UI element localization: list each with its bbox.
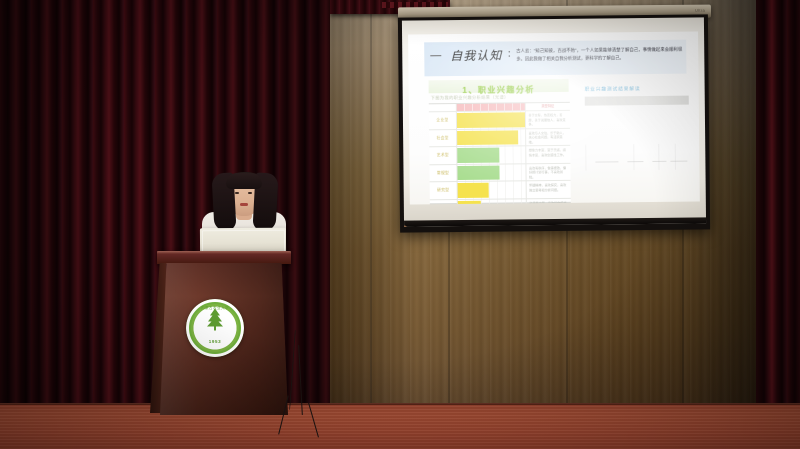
table-header-name-cell <box>429 104 457 111</box>
emblem-year: 1953 <box>186 339 244 344</box>
slide-sub-caption: 下图为我的职业兴趣分析结果（光谱） <box>431 94 509 101</box>
interest-analysis-table: 类型特征 企业型善于交际，热衷权力，善辞、善于说服他人，喜欢竞争。社会型喜欢与人… <box>429 102 571 204</box>
hair-fringe <box>226 173 262 189</box>
table-cell-type-name: 艺术型 <box>429 147 457 164</box>
stage-scene-photo: Ultra 自我认知 ： 古人云：“知己知彼，百战不殆”，一个人如果能够清楚了解… <box>0 0 800 449</box>
score-bar-fill <box>457 130 518 145</box>
table-row: 企业型善于交际，热衷权力，善辞、善于说服他人，喜欢竞争。 <box>429 111 570 130</box>
right-panel-faint-content <box>585 144 689 171</box>
title-dash-icon <box>430 55 441 57</box>
table-row: 社会型喜欢与人交往，乐于助人，关心社会问题，有活跃思维。 <box>429 128 570 147</box>
table-cell-score-bar <box>457 164 526 181</box>
stage-curtain-right <box>756 0 800 449</box>
table-cell-score-bar <box>457 146 526 163</box>
table-cell-score-bar <box>457 111 526 128</box>
projection-screen: 自我认知 ： 古人云：“知己知彼，百战不殆”，一个人如果能够清楚了解自己，事情做… <box>398 14 710 232</box>
slide-intro-text: 古人云：“知己知彼，百战不殆”，一个人如果能够清楚了解自己，事情做起来会顺利很多… <box>516 46 682 64</box>
table-cell-type-name: 社会型 <box>429 130 457 147</box>
table-cell-description: 喜欢有秩序，做事细致，偏好按计划行事，不喜欢冒险。 <box>526 163 570 180</box>
table-body: 企业型善于交际，热衷权力，善辞、善于说服他人，喜欢竞争。社会型喜欢与人交往，乐于… <box>429 111 571 205</box>
table-row: 现实型动手能力强，喜欢操作机械工具，务实稳重。 <box>430 198 571 204</box>
screen-bottom-bar <box>404 217 706 226</box>
score-bar-fill <box>458 200 481 204</box>
slide-title-band: 自我认知 ： 古人云：“知己知彼，百战不殆”，一个人如果能够清楚了解自己，事情做… <box>424 40 686 77</box>
projection-screen-surface: 自我认知 ： 古人云：“知己知彼，百战不殆”，一个人如果能够清楚了解自己，事情做… <box>402 17 706 226</box>
table-row: 研究型怀疑精神，喜欢探究，喜欢独立思考和分析问题。 <box>430 181 571 200</box>
roller-brand-label: Ultra <box>695 8 705 13</box>
score-bar-fill <box>457 148 499 163</box>
table-cell-description: 怀疑精神，喜欢探究，喜欢独立思考和分析问题。 <box>527 181 571 198</box>
screen-pull-handle[interactable] <box>402 226 408 227</box>
table-cell-type-name: 研究型 <box>430 182 458 199</box>
right-panel-gray-bar <box>585 96 689 106</box>
presentation-slide: 自我认知 ： 古人云：“知己知彼，百战不殆”，一个人如果能够清楚了解自己，事情做… <box>408 31 700 204</box>
mouth <box>240 203 248 206</box>
stage-floor <box>0 403 800 449</box>
table-header-scale-cell <box>457 103 526 111</box>
slide-section-header: 1、职业兴趣分析 <box>429 79 569 93</box>
curtain-shading <box>756 0 800 449</box>
slide-section-header-label: 1、职业兴趣分析 <box>462 85 535 95</box>
right-panel-heading: 职业兴趣测试结果解读 <box>585 86 689 93</box>
table-cell-description: 善于交际，热衷权力，善辞、善于说服他人，喜欢竞争。 <box>526 111 570 128</box>
table-cell-type-name: 现实型 <box>430 200 458 205</box>
table-cell-score-bar <box>458 181 527 198</box>
table-cell-score-bar <box>457 129 526 146</box>
eye-right <box>248 192 252 194</box>
table-cell-description: 想象力丰富，富于灵感，感情丰富，喜欢创造性工作。 <box>526 146 570 163</box>
podium-top-surface <box>157 251 291 264</box>
university-emblem: 内蒙古农业大学 1953 <box>186 299 244 357</box>
eye-left <box>235 192 239 194</box>
slide-title-colon: ： <box>507 48 515 59</box>
score-bar-fill <box>457 112 525 127</box>
floor-grain-texture <box>0 403 800 449</box>
score-bar-fill <box>457 165 499 180</box>
slide-right-panel: 职业兴趣测试结果解读 <box>585 86 690 183</box>
table-row: 艺术型想象力丰富，富于灵感，感情丰富，喜欢创造性工作。 <box>429 146 570 165</box>
table-cell-description: 喜欢与人交往，乐于助人，关心社会问题，有活跃思维。 <box>526 128 570 145</box>
pine-tree-icon <box>202 307 228 338</box>
table-cell-description: 动手能力强，喜欢操作机械工具，务实稳重。 <box>527 198 571 204</box>
table-header-desc-cell: 类型特征 <box>526 103 570 110</box>
table-row: 常规型喜欢有秩序，做事细致，偏好按计划行事，不喜欢冒险。 <box>429 163 570 182</box>
score-bar-fill <box>458 183 489 198</box>
table-cell-type-name: 常规型 <box>429 165 457 182</box>
slide-title: 自我认知 <box>450 47 502 65</box>
table-cell-type-name: 企业型 <box>429 112 457 129</box>
laptop[interactable] <box>200 228 286 254</box>
